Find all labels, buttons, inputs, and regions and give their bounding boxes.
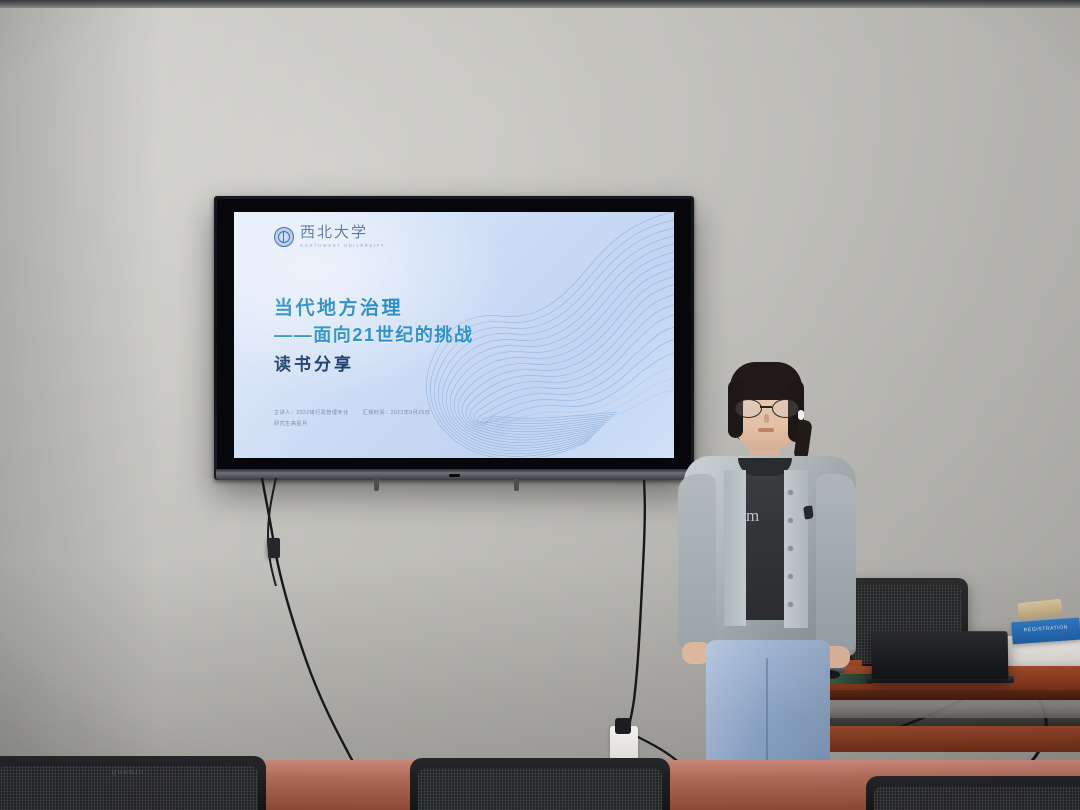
chair-mesh-back <box>874 786 1080 810</box>
glasses-bridge <box>760 406 772 408</box>
glasses-lens-right <box>772 399 799 418</box>
university-name-stack: 西北大学 NORTHWEST UNIVERSITY <box>300 226 385 248</box>
power-plug <box>615 718 631 734</box>
office-chair-front-left[interactable]: QUANJU <box>0 756 266 810</box>
nose <box>764 414 769 423</box>
cable-connector-box <box>268 538 280 558</box>
tv-ir-sensor-icon <box>449 474 460 477</box>
presentation-slide: 西北大学 NORTHWEST UNIVERSITY 当代地方治理 ——面向21世… <box>234 212 674 458</box>
cardigan-button <box>788 546 793 551</box>
meta-date-label: 汇报时间： <box>363 410 391 416</box>
eye-left <box>744 365 750 369</box>
meta-presenter-label: 主讲人： <box>274 410 296 416</box>
earbud-icon <box>798 410 804 420</box>
cardigan-button <box>788 490 793 495</box>
presenter: m <box>676 358 862 810</box>
wall-mounted-television[interactable]: 西北大学 NORTHWEST UNIVERSITY 当代地方治理 ——面向21世… <box>214 196 694 480</box>
office-chair-front-middle[interactable] <box>410 758 670 810</box>
chair-mesh-back <box>418 768 662 810</box>
university-logo: 西北大学 NORTHWEST UNIVERSITY <box>274 226 385 248</box>
tv-mount-left <box>374 479 379 491</box>
cardigan-button <box>788 602 793 607</box>
registration-sign: REGISTRATION <box>1011 618 1080 645</box>
arm-left <box>678 474 716 650</box>
slide-meta-block: 主讲人：2022级行政管理专业汇报时间：2023年9月25日 研究生高星月 <box>274 408 554 430</box>
glasses-lens-left <box>735 399 762 418</box>
slide-subtitle: 读书分享 <box>274 349 474 381</box>
tshirt-graphic: m <box>746 506 760 526</box>
meta-presenter-name: 研究生高星月 <box>274 421 308 427</box>
arm-right <box>816 474 856 654</box>
registration-sign-text: REGISTRATION <box>1012 624 1080 635</box>
university-name-en: NORTHWEST UNIVERSITY <box>300 243 385 248</box>
university-seal-icon <box>274 227 294 247</box>
brand-logo-icon <box>803 505 814 519</box>
meta-presenter-value: 2022级行政管理专业 <box>296 410 348 416</box>
slide-title-line-1: 当代地方治理 <box>274 296 474 322</box>
mouth <box>758 428 774 432</box>
cardigan-button <box>788 574 793 579</box>
cardigan-placket-left <box>724 470 746 626</box>
chair-brand-label: QUANJU <box>111 770 144 776</box>
tv-bottom-chin <box>216 469 692 480</box>
meta-date-value: 2023年9月25日 <box>391 410 431 416</box>
slide-title-line-2: ——面向21世纪的挑战 <box>274 322 474 349</box>
laptop-lid[interactable] <box>872 631 1009 679</box>
cardigan-button <box>788 518 793 523</box>
slide-title-block: 当代地方治理 ——面向21世纪的挑战 读书分享 <box>274 296 474 381</box>
office-chair-front-right[interactable] <box>866 776 1080 810</box>
tv-mount-right <box>514 479 519 491</box>
presentation-room-photo: 西北大学 NORTHWEST UNIVERSITY 当代地方治理 ——面向21世… <box>0 0 1080 810</box>
university-name-cn: 西北大学 <box>300 226 385 241</box>
eye-right <box>780 365 786 369</box>
